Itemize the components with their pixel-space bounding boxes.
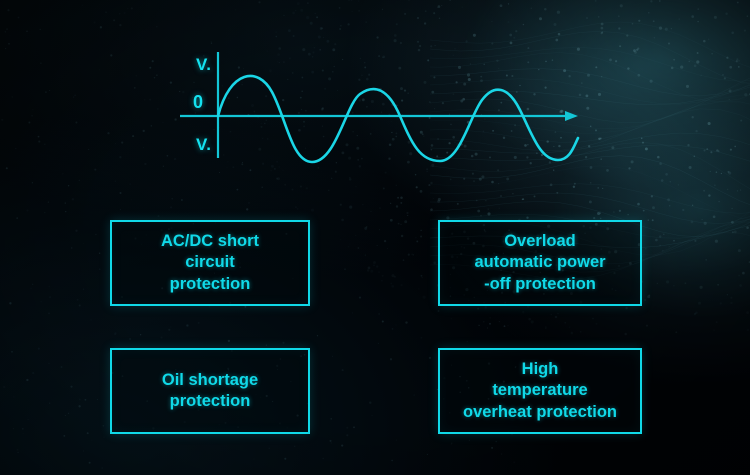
diagram-canvas: V. 0 V. AC/DC short circuit protection O… — [0, 0, 750, 475]
waveform-zero-label: 0 — [193, 92, 204, 113]
feature-box-high-temperature-overheat-protection: High temperature overheat protection — [438, 348, 642, 434]
x-axis-arrowhead — [565, 111, 578, 121]
feature-label: Oil shortage protection — [162, 370, 258, 412]
feature-box-overload-automatic-power-off-protection: Overload automatic power -off protection — [438, 220, 642, 306]
feature-label: High temperature overheat protection — [463, 359, 617, 422]
feature-label: AC/DC short circuit protection — [161, 231, 259, 294]
feature-box-oil-shortage-protection: Oil shortage protection — [110, 348, 310, 434]
waveform-svg — [160, 30, 590, 180]
feature-label: Overload automatic power -off protection — [474, 231, 605, 294]
waveform-bottom-label: V. — [196, 135, 212, 155]
sine-wave-path — [218, 76, 578, 162]
waveform-top-label: V. — [196, 55, 212, 75]
feature-box-ac-dc-short-circuit-protection: AC/DC short circuit protection — [110, 220, 310, 306]
waveform-panel: V. 0 V. — [160, 30, 590, 180]
